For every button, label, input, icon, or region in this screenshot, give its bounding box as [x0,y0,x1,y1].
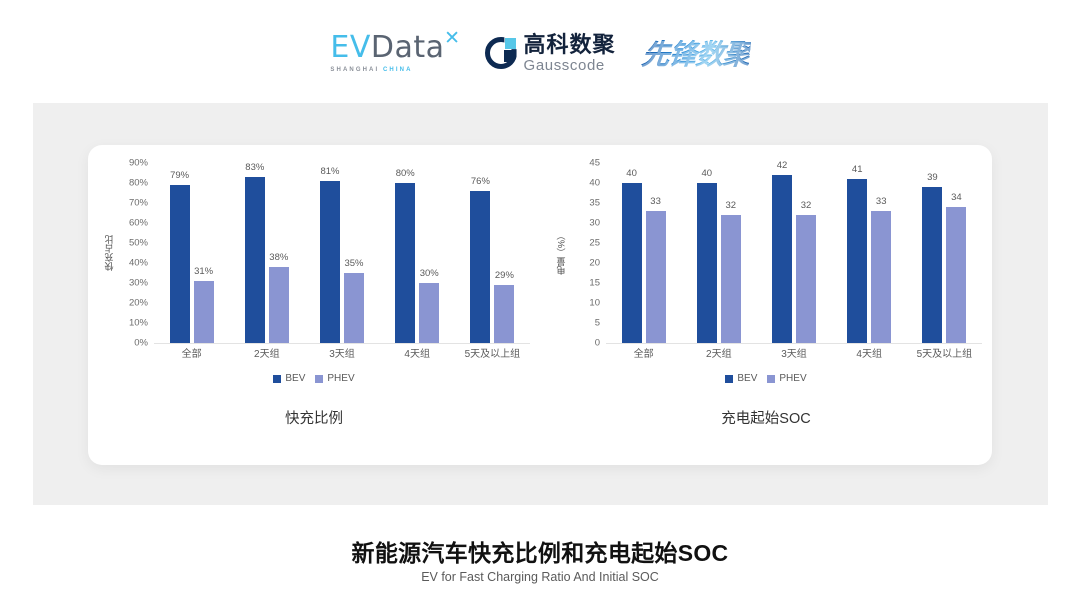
gausscode-chinese-name: 高科数聚 [524,34,616,56]
legend-item-phev[interactable]: PHEV [315,373,354,384]
y-tick-right: 35 [589,197,600,208]
bar-value-label: 30% [420,268,439,279]
gausscode-text: 高科数聚 Gausscode [524,34,616,73]
bar-value-label: 38% [269,252,288,263]
bar-value-label: 32 [726,200,737,211]
bar-wrap: 33 [646,163,666,343]
legend-swatch-bev-icon [725,375,733,383]
x-tick-left: 4天组 [380,345,455,360]
x-tick-right: 3天组 [756,345,831,360]
plot-area-right: 电量（%） 45 40 35 30 25 20 15 10 5 0 [540,163,992,373]
x-tick-left: 全部 [154,345,229,360]
x-axis-labels-right: 全部 2天组 3天组 4天组 5天及以上组 [606,345,982,360]
bar-wrap: 79% [170,163,190,343]
plot-area-left: 快充占比 90% 80% 70% 60% 50% 40% 30% 20% 10%… [88,163,540,373]
bar-group: 40 33 [606,163,681,343]
page-title: 新能源汽车快充比例和充电起始SOC [0,534,1080,568]
bar-value-label: 29% [495,270,514,281]
legend-swatch-phev-icon [767,375,775,383]
gausscode-logo: 高科数聚 Gausscode [485,34,616,73]
bar-wrap: 83% [245,163,265,343]
bar-wrap: 42 [772,163,792,343]
legend-label-bev: BEV [285,373,305,384]
chart-caption-left: 快充比例 [88,407,540,428]
bar-wrap: 32 [721,163,741,343]
bar-phev[interactable]: 38% [269,267,289,343]
bars-zone-left: 79% 31% 83% [154,163,530,344]
bar-bev[interactable]: 79% [170,185,190,343]
chart-initial-soc: 电量（%） 45 40 35 30 25 20 15 10 5 0 [540,145,992,465]
bar-group: 39 34 [907,163,982,343]
bar-group: 41 33 [832,163,907,343]
bar-phev[interactable]: 32 [721,215,741,343]
bar-wrap: 35% [344,163,364,343]
y-tick-left: 0% [134,338,148,349]
bar-wrap: 40 [697,163,717,343]
page-subtitle: EV for Fast Charging Ratio And Initial S… [0,570,1080,584]
bar-wrap: 29% [494,163,514,343]
bar-value-label: 35% [344,258,363,269]
evdata-data-text: Data [371,30,445,65]
bar-wrap: 76% [470,163,490,343]
bar-value-label: 40 [626,168,637,179]
y-axis-ticks-left: 90% 80% 70% 60% 50% 40% 30% 20% 10% 0% [110,163,152,343]
charts-card: 快充占比 90% 80% 70% 60% 50% 40% 30% 20% 10%… [88,145,992,465]
cross-icon: ✕ [444,29,460,48]
bar-bev[interactable]: 80% [395,183,415,343]
x-tick-right: 4天组 [832,345,907,360]
bar-value-label: 31% [194,266,213,277]
charts-row: 快充占比 90% 80% 70% 60% 50% 40% 30% 20% 10%… [88,145,992,465]
logo-bar: EVData ✕ SHANGHAI CHINA 高科数聚 Gausscode 先… [0,22,1080,84]
x-axis-labels-left: 全部 2天组 3天组 4天组 5天及以上组 [154,345,530,360]
x-tick-right: 5天及以上组 [907,345,982,360]
bar-value-label: 42 [777,160,788,171]
bar-value-label: 83% [245,162,264,173]
bar-bev[interactable]: 40 [697,183,717,343]
bars-zone-right: 40 33 40 [606,163,982,344]
y-tick-right: 15 [589,277,600,288]
bar-value-label: 80% [396,168,415,179]
evdata-tagline-country: CHINA [383,67,413,73]
bar-phev[interactable]: 30% [419,283,439,343]
y-tick-left: 30% [129,277,148,288]
bar-wrap: 41 [847,163,867,343]
x-tick-right: 2天组 [681,345,756,360]
y-tick-right: 30 [589,217,600,228]
bar-phev[interactable]: 31% [194,281,214,343]
bar-value-label: 34 [951,192,962,203]
legend-swatch-bev-icon [273,375,281,383]
y-tick-left: 50% [129,237,148,248]
bar-group: 83% 38% [229,163,304,343]
bar-group: 81% 35% [304,163,379,343]
bar-wrap: 31% [194,163,214,343]
bar-bev[interactable]: 81% [320,181,340,343]
bar-wrap: 40 [622,163,642,343]
xianfeng-logo: 先锋数聚 [639,33,751,73]
bar-bev[interactable]: 83% [245,177,265,343]
y-tick-right: 0 [595,338,600,349]
y-tick-left: 80% [129,177,148,188]
bar-value-label: 81% [320,166,339,177]
legend-left: BEV PHEV [88,373,540,384]
y-tick-right: 20 [589,257,600,268]
bar-wrap: 34 [946,163,966,343]
bar-value-label: 32 [801,200,812,211]
bar-wrap: 81% [320,163,340,343]
gausscode-square-shape [505,38,516,49]
bar-wrap: 32 [796,163,816,343]
bar-bev[interactable]: 39 [922,187,942,343]
y-tick-right: 45 [589,158,600,169]
legend-label-phev: PHEV [779,373,806,384]
legend-label-phev: PHEV [327,373,354,384]
bar-bev[interactable]: 76% [470,191,490,343]
y-tick-left: 10% [129,317,148,328]
bar-phev[interactable]: 34 [946,207,966,343]
bar-phev[interactable]: 32 [796,215,816,343]
y-tick-right: 40 [589,177,600,188]
bar-phev[interactable]: 29% [494,285,514,343]
evdata-tagline: SHANGHAI CHINA [330,67,412,73]
legend-right: BEV PHEV [540,373,992,384]
y-tick-left: 60% [129,217,148,228]
bar-bev[interactable]: 41 [847,179,867,343]
evdata-wordmark: EVData ✕ [330,33,444,63]
gausscode-inner-shape [504,50,513,62]
bar-wrap: 80% [395,163,415,343]
bar-value-label: 79% [170,170,189,181]
bar-value-label: 39 [927,172,938,183]
bar-wrap: 38% [269,163,289,343]
bar-phev[interactable]: 33 [871,211,891,343]
evdata-logo: EVData ✕ SHANGHAI CHINA [330,33,458,73]
bar-value-label: 40 [702,168,713,179]
y-tick-left: 90% [129,158,148,169]
x-tick-left: 3天组 [304,345,379,360]
x-tick-left: 5天及以上组 [455,345,530,360]
evdata-tagline-city: SHANGHAI [330,67,383,73]
gausscode-mark-icon [485,37,517,69]
bar-wrap: 30% [419,163,439,343]
bar-group: 79% 31% [154,163,229,343]
y-tick-right: 25 [589,237,600,248]
x-tick-left: 2天组 [229,345,304,360]
legend-item-phev[interactable]: PHEV [767,373,806,384]
bar-group: 42 32 [756,163,831,343]
bar-wrap: 39 [922,163,942,343]
chart-fast-charging-ratio: 快充占比 90% 80% 70% 60% 50% 40% 30% 20% 10%… [88,145,540,465]
bar-group: 76% 29% [455,163,530,343]
bar-value-label: 41 [852,164,863,175]
y-tick-left: 40% [129,257,148,268]
y-axis-ticks-right: 45 40 35 30 25 20 15 10 5 0 [562,163,604,343]
legend-item-bev[interactable]: BEV [725,373,757,384]
evdata-ev-text: EV [330,30,370,65]
bar-value-label: 76% [471,176,490,187]
y-tick-right: 10 [589,297,600,308]
bar-phev[interactable]: 35% [344,273,364,343]
bar-bev[interactable]: 42 [772,175,792,343]
bar-value-label: 33 [876,196,887,207]
bar-phev[interactable]: 33 [646,211,666,343]
legend-label-bev: BEV [737,373,757,384]
y-tick-right: 5 [595,317,600,328]
bar-value-label: 33 [650,196,661,207]
x-tick-right: 全部 [606,345,681,360]
legend-swatch-phev-icon [315,375,323,383]
y-tick-left: 20% [129,297,148,308]
bar-group: 80% 30% [380,163,455,343]
bar-wrap: 33 [871,163,891,343]
bar-bev[interactable]: 40 [622,183,642,343]
bar-group: 40 32 [681,163,756,343]
y-tick-left: 70% [129,197,148,208]
chart-caption-right: 充电起始SOC [540,407,992,428]
gausscode-english-name: Gausscode [524,58,616,73]
legend-item-bev[interactable]: BEV [273,373,305,384]
